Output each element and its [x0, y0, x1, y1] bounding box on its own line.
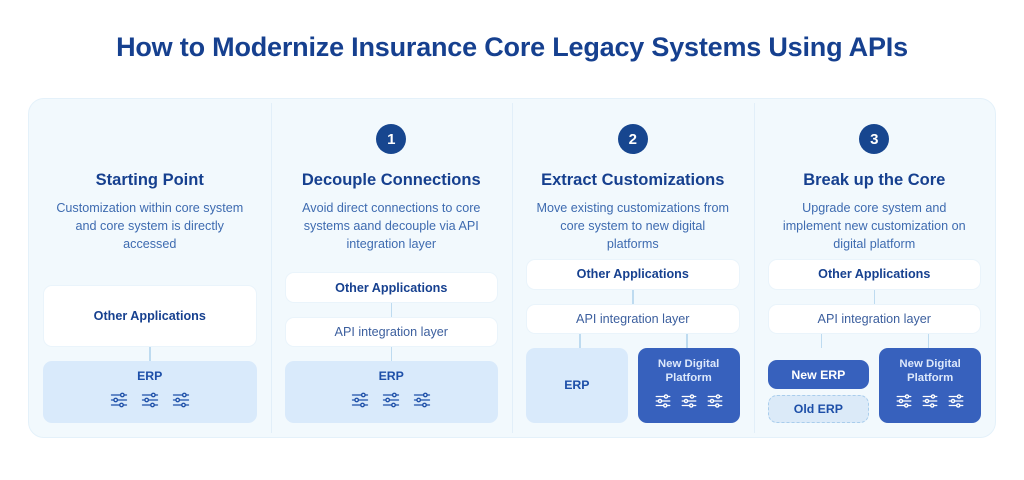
step-badge-2: 2 — [618, 124, 648, 154]
slider-icon-group — [350, 390, 432, 413]
column-title-0: Starting Point — [96, 171, 204, 191]
column-subtitle-2: Move existing customizations from core s… — [533, 200, 733, 254]
node-erp: ERP — [526, 348, 628, 423]
core-cell-erp: ERP — [526, 348, 628, 423]
sliders-icon — [680, 392, 698, 414]
diagram-stack-2: Other Applications API integration layer… — [526, 259, 740, 423]
node-api-integration-layer: API integration layer — [285, 317, 499, 347]
diagram-stack-3: Other Applications API integration layer… — [768, 259, 982, 423]
core-row: ERP New Digital Platform — [526, 348, 740, 423]
sliders-icon — [350, 390, 370, 413]
sliders-icon — [895, 392, 913, 414]
sliders-icon — [381, 390, 401, 413]
node-new-erp: New ERP — [768, 360, 870, 389]
step-badge-3: 3 — [859, 124, 889, 154]
sliders-icon — [706, 392, 724, 414]
sliders-icon — [412, 390, 432, 413]
connector-line — [391, 303, 393, 317]
diagram-stack-0: Other Applications ERP — [43, 285, 257, 423]
node-old-erp: Old ERP — [768, 395, 870, 423]
column-starting-point: Starting Point Customization within core… — [29, 99, 271, 437]
column-subtitle-3: Upgrade core system and implement new cu… — [774, 200, 974, 254]
ndp-line1: New Digital — [658, 357, 719, 371]
connector-line — [686, 334, 688, 348]
column-decouple-connections: 1 Decouple Connections Avoid direct conn… — [271, 99, 513, 437]
column-extract-customizations: 2 Extract Customizations Move existing c… — [512, 99, 754, 437]
sliders-icon — [921, 392, 939, 414]
node-other-applications: Other Applications — [285, 272, 499, 303]
core-cell-platform: New Digital Platform — [879, 348, 981, 423]
node-erp-label: ERP — [379, 369, 404, 383]
node-erp-label: ERP — [137, 369, 162, 383]
node-other-applications: Other Applications — [526, 259, 740, 290]
column-title-2: Extract Customizations — [541, 171, 724, 191]
node-api-integration-layer: API integration layer — [526, 304, 740, 334]
node-erp: ERP — [285, 361, 499, 423]
sliders-icon — [109, 390, 129, 413]
column-subtitle-1: Avoid direct connections to core systems… — [291, 200, 491, 254]
node-other-applications: Other Applications — [43, 285, 257, 347]
column-break-up-the-core: 3 Break up the Core Upgrade core system … — [754, 99, 996, 437]
core-cell-platform: New Digital Platform — [638, 348, 740, 423]
node-new-digital-platform: New Digital Platform — [638, 348, 740, 423]
infographic-page: How to Modernize Insurance Core Legacy S… — [0, 0, 1024, 480]
connector-split — [768, 334, 982, 348]
node-new-digital-platform: New Digital Platform — [879, 348, 981, 423]
slider-icon-group — [654, 392, 724, 414]
column-subtitle-0: Customization within core system and cor… — [50, 200, 250, 254]
page-title: How to Modernize Insurance Core Legacy S… — [0, 32, 1024, 63]
connector-line — [928, 334, 930, 348]
steps-panel: Starting Point Customization within core… — [28, 98, 996, 438]
sliders-icon — [947, 392, 965, 414]
node-api-integration-layer: API integration layer — [768, 304, 982, 334]
connector-line — [874, 290, 876, 304]
core-cell-erp: New ERP Old ERP — [768, 348, 870, 423]
node-other-applications: Other Applications — [768, 259, 982, 290]
connector-split — [526, 334, 740, 348]
sliders-icon — [654, 392, 672, 414]
connector-line — [149, 347, 151, 361]
connector-line — [632, 290, 634, 304]
slider-icon-group — [895, 392, 965, 414]
ndp-line1: New Digital — [899, 357, 960, 371]
sliders-icon — [140, 390, 160, 413]
connector-line — [391, 347, 393, 361]
slider-icon-group — [109, 390, 191, 413]
diagram-stack-1: Other Applications API integration layer… — [285, 272, 499, 423]
connector-line — [579, 334, 581, 348]
sliders-icon — [171, 390, 191, 413]
ndp-line2: Platform — [899, 371, 960, 385]
node-new-digital-platform-label: New Digital Platform — [899, 357, 960, 385]
step-badge-1: 1 — [376, 124, 406, 154]
core-row: New ERP Old ERP New Digital Platform — [768, 348, 982, 423]
column-title-1: Decouple Connections — [302, 171, 481, 191]
column-title-3: Break up the Core — [803, 171, 945, 191]
connector-line — [821, 334, 823, 348]
node-erp: ERP — [43, 361, 257, 423]
ndp-line2: Platform — [658, 371, 719, 385]
node-new-digital-platform-label: New Digital Platform — [658, 357, 719, 385]
